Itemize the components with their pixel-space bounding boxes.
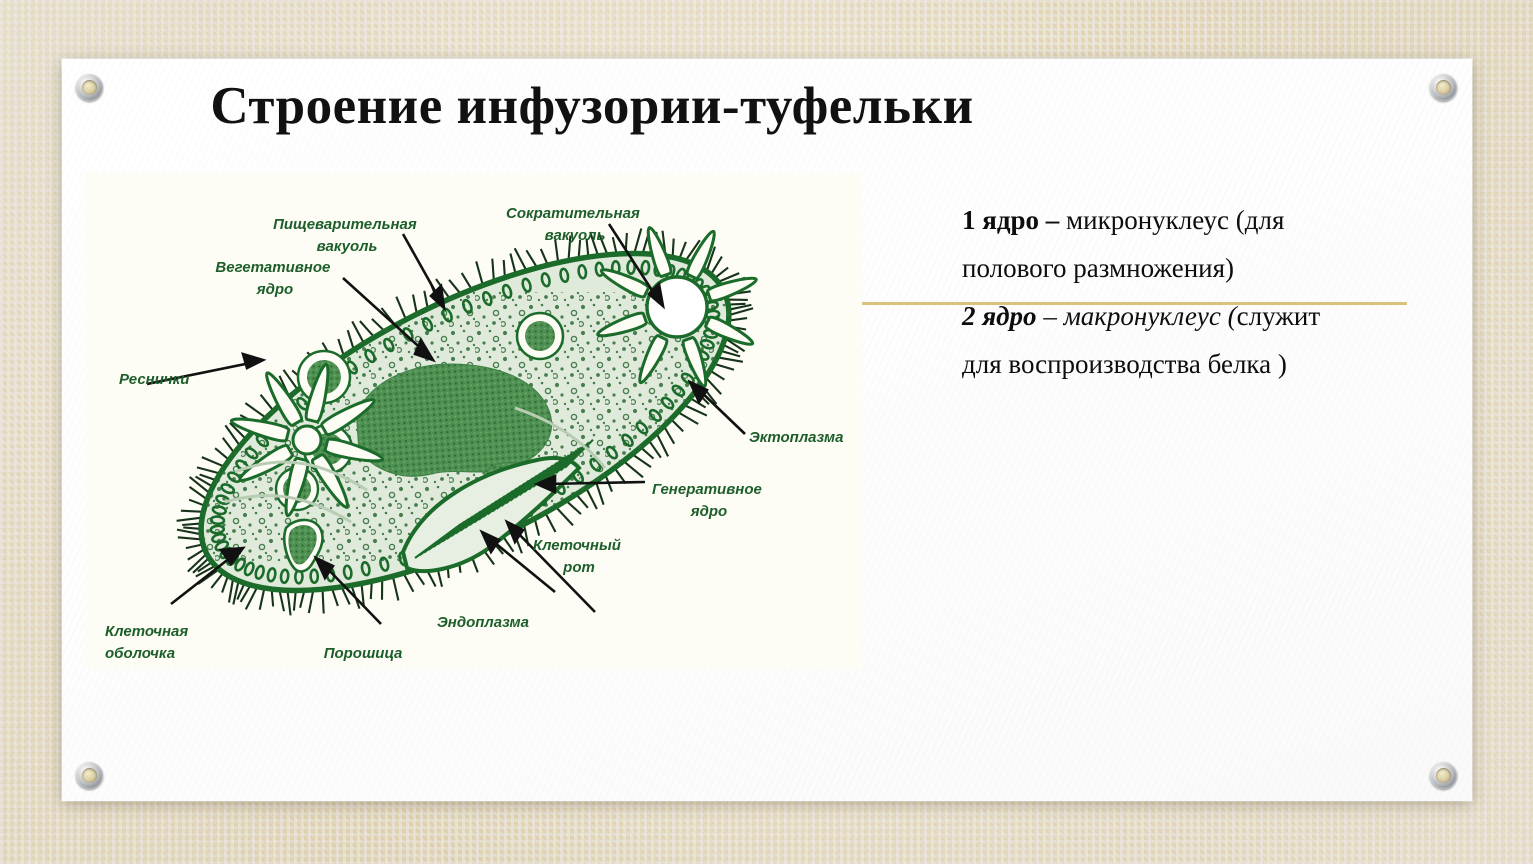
- note-line-2: полового размножения): [962, 244, 1440, 292]
- screw-bottom-right-icon: [1430, 762, 1457, 789]
- notes-block: 1 ядро – микронуклеус (для полового разм…: [962, 196, 1440, 388]
- label-ectoplasm: Эктоплазма: [749, 429, 843, 446]
- label-cytopyge: Порошица: [324, 645, 403, 662]
- label-endoplasm: Эндоплазма: [437, 614, 529, 631]
- note-line-4: для воспроизводства белка ): [962, 340, 1440, 388]
- note-line-1: 1 ядро – микронуклеус (для: [962, 196, 1440, 244]
- label-cilia: Реснички: [119, 371, 189, 388]
- screw-bottom-left-icon: [76, 762, 103, 789]
- note-line-3: 2 ядро – макронуклеус (служит: [962, 292, 1440, 340]
- paramecium-diagram: Реснички Клеточная оболочка Вегетативное…: [85, 172, 862, 669]
- screw-top-right-icon: [1430, 74, 1457, 101]
- page-title: Строение инфузории-туфельки: [62, 76, 1122, 136]
